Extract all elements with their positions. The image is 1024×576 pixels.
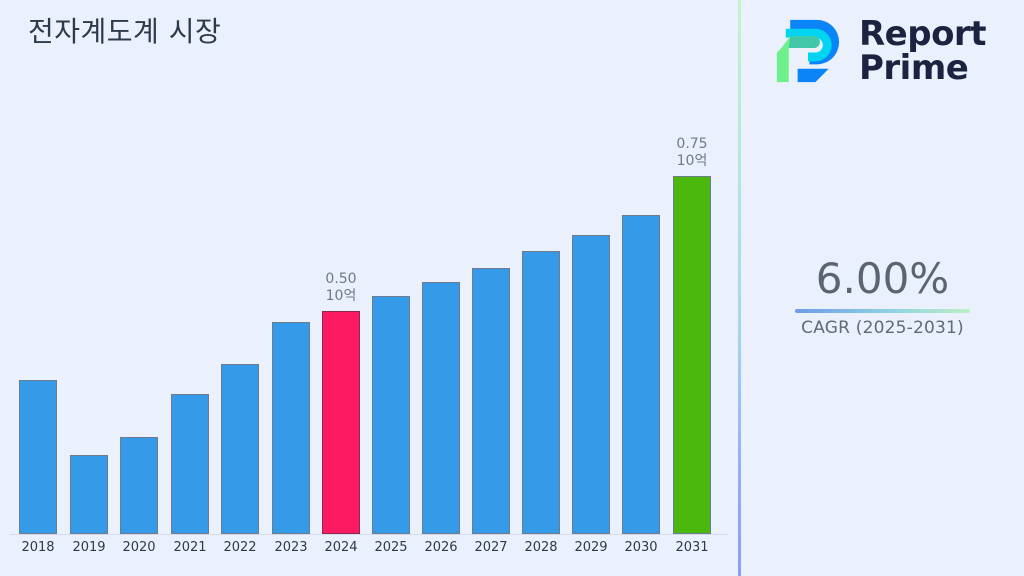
- bar-rect-2024: [322, 311, 360, 534]
- bars-layer: 0.5010억0.7510억: [0, 0, 738, 535]
- x-tick-2020: 2020: [120, 540, 158, 555]
- bar-2018: [19, 380, 57, 534]
- bar-2030: [622, 215, 660, 534]
- bar-rect-2019: [70, 455, 108, 534]
- cagr-value: 6.00%: [741, 255, 1024, 303]
- x-tick-2029: 2029: [572, 540, 610, 555]
- chart-screenshot: 전자계도계 시장 0.5010억0.7510억 2018201920202021…: [0, 0, 1024, 576]
- bar-rect-2030: [622, 215, 660, 534]
- bar-2021: [171, 394, 209, 534]
- bar-rect-2027: [472, 268, 510, 534]
- x-tick-2021: 2021: [171, 540, 209, 555]
- bar-rect-2023: [272, 322, 310, 534]
- bar-2024: 0.5010억: [322, 311, 360, 534]
- bar-value-amount: 0.75: [676, 136, 707, 153]
- x-tick-2030: 2030: [622, 540, 660, 555]
- x-axis-baseline: [10, 534, 728, 535]
- report-prime-logo: Report Prime: [771, 14, 986, 88]
- bar-rect-2022: [221, 364, 259, 534]
- cagr-divider-rule: [795, 309, 970, 313]
- x-tick-2027: 2027: [472, 540, 510, 555]
- bar-rect-2025: [372, 296, 410, 534]
- bar-rect-2018: [19, 380, 57, 534]
- cagr-block: 6.00% CAGR (2025-2031): [741, 255, 1024, 338]
- bar-rect-2031: [673, 176, 711, 534]
- chart-panel: 전자계도계 시장 0.5010억0.7510억 2018201920202021…: [0, 0, 738, 576]
- logo-line-1: Report: [859, 17, 986, 51]
- bar-rect-2021: [171, 394, 209, 534]
- bar-2025: [372, 296, 410, 534]
- x-tick-2024: 2024: [322, 540, 360, 555]
- x-tick-2025: 2025: [372, 540, 410, 555]
- x-tick-2019: 2019: [70, 540, 108, 555]
- bar-rect-2029: [572, 235, 610, 534]
- bar-2026: [422, 282, 460, 534]
- bar-value-label-2024: 0.5010억: [325, 271, 356, 305]
- bar-2029: [572, 235, 610, 534]
- bar-2023: [272, 322, 310, 534]
- bar-2022: [221, 364, 259, 534]
- x-tick-2031: 2031: [673, 540, 711, 555]
- x-tick-2018: 2018: [19, 540, 57, 555]
- bar-2027: [472, 268, 510, 534]
- bar-rect-2026: [422, 282, 460, 534]
- plot-area: 0.5010억0.7510억: [0, 0, 738, 536]
- bar-rect-2028: [522, 251, 560, 534]
- bar-2031: 0.7510억: [673, 176, 711, 534]
- bar-rect-2020: [120, 437, 158, 534]
- x-tick-2023: 2023: [272, 540, 310, 555]
- bar-value-unit: 10억: [676, 153, 707, 170]
- bar-value-amount: 0.50: [325, 271, 356, 288]
- bar-value-label-2031: 0.7510억: [676, 136, 707, 170]
- cagr-label: CAGR (2025-2031): [741, 318, 1024, 338]
- bar-2028: [522, 251, 560, 534]
- x-axis-tick-labels: 2018201920202021202220232024202520262027…: [0, 540, 738, 570]
- x-tick-2022: 2022: [221, 540, 259, 555]
- bar-value-unit: 10억: [325, 288, 356, 305]
- report-prime-wordmark: Report Prime: [859, 17, 986, 85]
- x-tick-2026: 2026: [422, 540, 460, 555]
- report-prime-mark-icon: [771, 14, 845, 88]
- bar-2019: [70, 455, 108, 534]
- x-tick-2028: 2028: [522, 540, 560, 555]
- bar-2020: [120, 437, 158, 534]
- side-panel: Report Prime 6.00% CAGR (2025-2031): [741, 0, 1024, 576]
- logo-line-2: Prime: [859, 51, 986, 85]
